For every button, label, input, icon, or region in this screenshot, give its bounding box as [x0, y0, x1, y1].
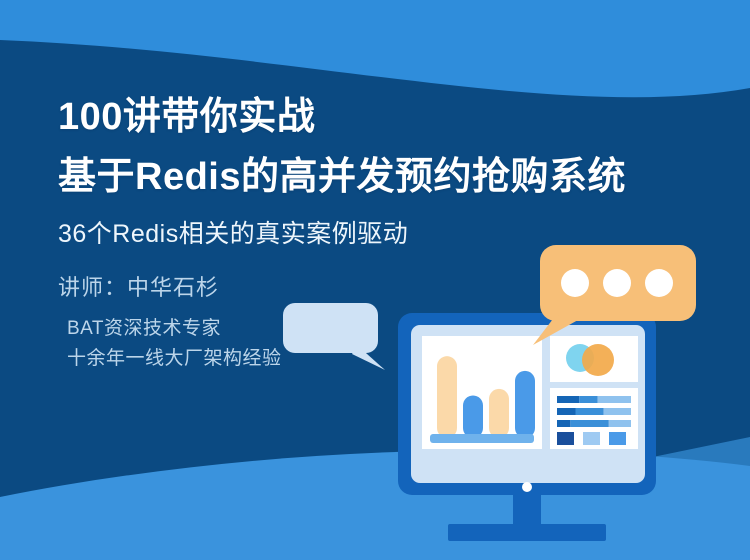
headline-line-2: 基于Redis的高并发预约抢购系统 [58, 158, 470, 196]
course-promo-banner: 100讲带你实战 基于Redis的高并发预约抢购系统 36个Redis相关的真实… [0, 0, 750, 560]
stat-tile-0 [557, 432, 574, 445]
bar-2 [463, 395, 483, 438]
instructor-name: 讲师：中华石杉 [58, 277, 470, 299]
progress-row-2-seg-1 [570, 420, 608, 427]
stat-tile-1 [583, 432, 600, 445]
typing-dot-1 [561, 269, 589, 297]
progress-rows [557, 396, 631, 427]
tile-row [557, 432, 626, 445]
progress-row-1-seg-1 [576, 408, 604, 415]
typing-dot-3 [645, 269, 673, 297]
progress-row-1-seg-2 [604, 408, 631, 415]
subheadline: 36个Redis相关的真实案例驱动 [58, 222, 470, 247]
bar-3 [489, 389, 509, 438]
bar-chart-baseline [430, 434, 534, 443]
progress-row-0-seg-1 [579, 396, 598, 403]
headline-line-1: 100讲带你实战 [58, 98, 470, 136]
stat-tile-2 [609, 432, 626, 445]
bar-4 [515, 371, 535, 438]
typing-dot-2 [603, 269, 631, 297]
progress-row-2-seg-0 [557, 420, 570, 427]
progress-row-0-seg-2 [598, 396, 631, 403]
monitor-power-dot [522, 482, 532, 492]
monitor-base [448, 524, 606, 541]
credential-line-1: BAT资深技术专家 [58, 315, 470, 343]
credential-line-2: 十余年一线大厂架构经验 [58, 345, 470, 373]
venn-circle-orange [582, 344, 614, 376]
copy-block: 100讲带你实战 基于Redis的高并发预约抢购系统 36个Redis相关的真实… [0, 0, 470, 372]
progress-row-0-seg-0 [557, 396, 579, 403]
progress-row-1-seg-0 [557, 408, 576, 415]
progress-row-2-seg-2 [609, 420, 631, 427]
